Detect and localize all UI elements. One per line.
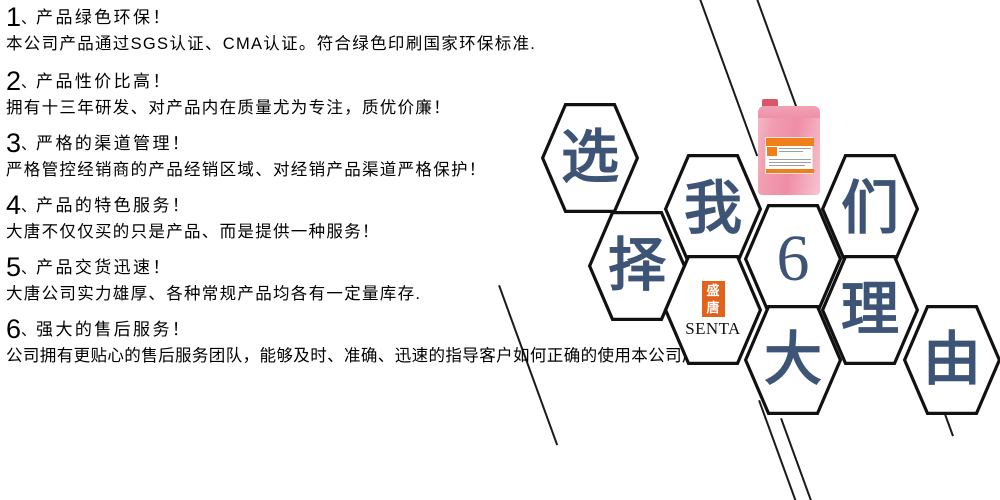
reason-separator: 、 (21, 10, 36, 27)
reason-heading: 4、产品的特色服务！ (6, 192, 706, 219)
reason-description: 本公司产品通过SGS认证、CMA认证。符合绿色印刷国家环保标准. (6, 35, 706, 54)
reason-title: 产品的特色服务！ (36, 196, 191, 215)
reason-heading: 6、强大的售后服务！ (6, 316, 706, 343)
reason-title: 产品交货迅速！ (36, 258, 172, 277)
promo-banner: 1、产品绿色环保！本公司产品通过SGS认证、CMA认证。符合绿色印刷国家环保标准… (0, 0, 1000, 500)
decorative-diagonal-line (929, 370, 954, 436)
seal-char-top: 盛 (706, 284, 719, 297)
reason-item: 3、严格的渠道管理！严格管控经销商的产品经销区域、对经销产品渠道严格保护！ (6, 130, 706, 180)
hexagon-cell: 大 (744, 305, 842, 415)
hexagon-outline-icon (744, 204, 842, 314)
reason-separator: 、 (21, 260, 36, 277)
reasons-list: 1、产品绿色环保！本公司产品通过SGS认证、CMA认证。符合绿色印刷国家环保标准… (6, 4, 706, 378)
hexagon-outline-icon (821, 154, 919, 264)
reason-item: 2、产品性价比高！拥有十三年研发、对产品内在质量尤为专注，质优价廉！ (6, 68, 706, 118)
reason-item: 5、产品交货迅速！大唐公司实力雄厚、各种常规产品均各有一定量库存. (6, 254, 706, 304)
hexagon-cell: 由 (903, 305, 1000, 415)
decorative-diagonal-line (781, 418, 817, 500)
label-logo-square (767, 147, 777, 156)
hexagon-character: 6 (744, 204, 842, 314)
hexagon-outline-icon (821, 255, 919, 365)
reason-item: 6、强大的售后服务！公司拥有更贴心的售后服务团队，能够及时、准确、迅速的指导客户… (6, 316, 706, 366)
hexagon-character: 们 (821, 154, 919, 264)
reason-description: 大唐不仅仅买的只是产品、而是提供一种服务！ (6, 223, 706, 242)
hexagon-cell: 们 (821, 154, 919, 264)
hexagon-character: 大 (744, 305, 842, 415)
hexagon-cell: 6 (744, 204, 842, 314)
hexagon-character: 由 (903, 305, 1000, 415)
bottle-label (765, 137, 813, 174)
label-header-bar (766, 138, 814, 146)
label-text-line (769, 162, 811, 163)
seal-char-bottom: 唐 (706, 301, 719, 314)
reason-number: 1 (6, 2, 21, 32)
hexagon-character: 理 (821, 255, 919, 365)
reason-separator: 、 (21, 322, 36, 339)
reason-heading: 1、产品绿色环保！ (6, 4, 706, 31)
reason-title: 严格的渠道管理！ (36, 134, 191, 153)
reason-separator: 、 (21, 74, 36, 91)
label-text-line (769, 159, 811, 160)
hexagon-cell: 理 (821, 255, 919, 365)
hexagon-outline-icon (744, 305, 842, 415)
reason-number: 6 (6, 314, 21, 344)
reason-number: 5 (6, 252, 21, 282)
reason-number: 2 (6, 66, 21, 96)
label-footer-bar (766, 169, 814, 173)
reason-title: 产品绿色环保！ (36, 8, 172, 27)
label-text-line (779, 148, 811, 149)
label-text-line (769, 165, 805, 166)
reason-separator: 、 (21, 198, 36, 215)
reason-description: 大唐公司实力雄厚、各种常规产品均各有一定量库存. (6, 285, 706, 304)
reason-description: 公司拥有更贴心的售后服务团队，能够及时、准确、迅速的指导客户如何正确的使用本公司… (6, 347, 706, 366)
reason-number: 3 (6, 128, 21, 158)
reason-separator: 、 (21, 136, 36, 153)
reason-number: 4 (6, 190, 21, 220)
reason-heading: 5、产品交货迅速！ (6, 254, 706, 281)
hexagon-outline-icon (903, 305, 1000, 415)
reason-item: 1、产品绿色环保！本公司产品通过SGS认证、CMA认证。符合绿色印刷国家环保标准… (6, 4, 706, 54)
reason-heading: 2、产品性价比高！ (6, 68, 706, 95)
decorative-diagonal-line (699, 0, 759, 156)
reason-item: 4、产品的特色服务！大唐不仅仅买的只是产品、而是提供一种服务！ (6, 192, 706, 242)
reason-description: 严格管控经销商的产品经销区域、对经销产品渠道严格保护！ (6, 161, 706, 180)
reason-heading: 3、严格的渠道管理！ (6, 130, 706, 157)
decorative-diagonal-line (759, 400, 802, 500)
reason-description: 拥有十三年研发、对产品内在质量尤为专注，质优价廉！ (6, 99, 706, 118)
reason-title: 产品性价比高！ (36, 72, 172, 91)
product-bottle-image (758, 99, 820, 195)
bottle-shoulder (758, 106, 820, 118)
reason-title: 强大的售后服务！ (36, 320, 191, 339)
label-text-line (779, 151, 803, 152)
